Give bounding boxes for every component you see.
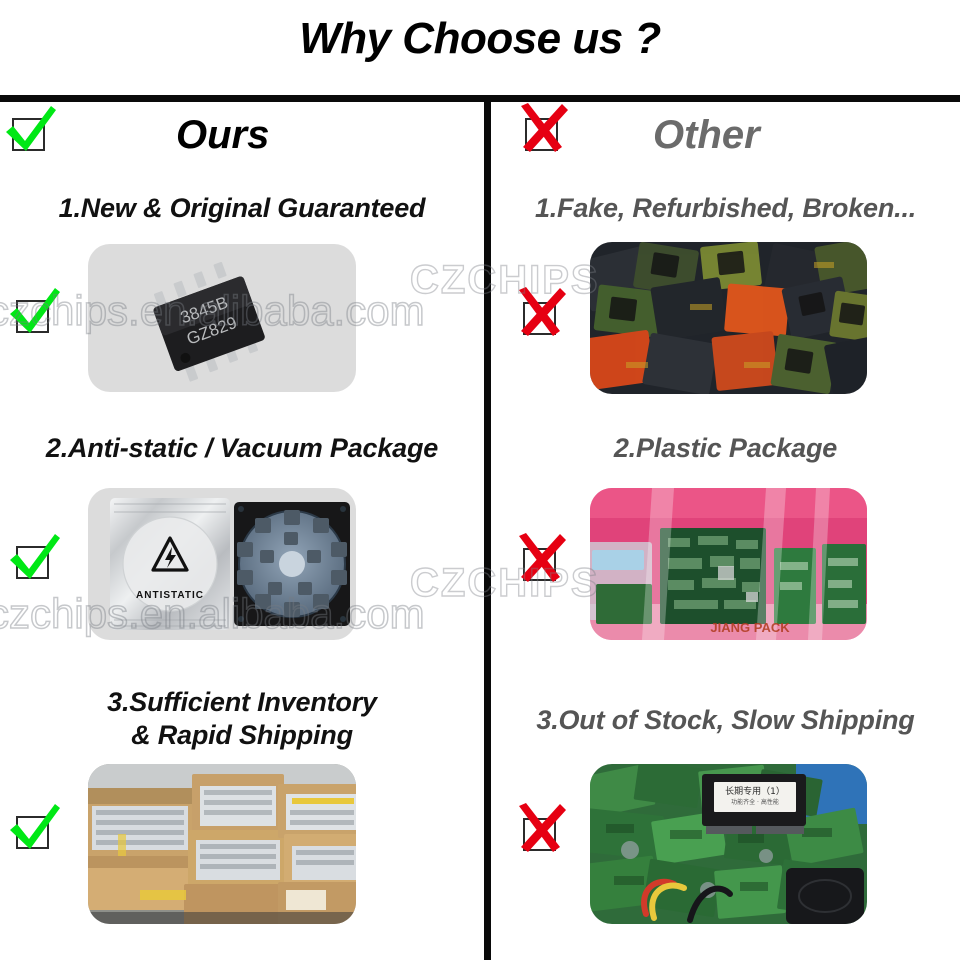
- comparison-poster: Why Choose us ? Ours Other 1.New & Origi…: [0, 0, 960, 960]
- svg-text:JIANG PACK: JIANG PACK: [710, 620, 790, 635]
- row-3-other-title: 3.Out of Stock, Slow Shipping: [491, 704, 960, 737]
- svg-text:ANTISTATIC: ANTISTATIC: [136, 590, 204, 601]
- row-2-other-title: 2.Plastic Package: [491, 432, 960, 465]
- check-icon: [6, 112, 50, 156]
- header-divider-horizontal: [0, 95, 960, 102]
- page-title: Why Choose us ?: [0, 14, 960, 64]
- ic-chip-photo: 3845B GZ829: [88, 244, 356, 392]
- plastic-package-photo: JIANG PACK: [590, 488, 867, 640]
- check-icon: [10, 810, 54, 854]
- svg-text:长期专用（1）: 长期专用（1）: [725, 785, 785, 797]
- row-3-ours-title: 3.Sufficient Inventory & Rapid Shipping: [0, 686, 484, 752]
- row-3-other: 3.Out of Stock, Slow Shipping: [491, 686, 960, 951]
- row-2-ours-title: 2.Anti-static / Vacuum Package: [0, 432, 484, 465]
- column-divider-vertical: [484, 95, 491, 960]
- row-3-ours: 3.Sufficient Inventory & Rapid Shipping: [0, 686, 484, 951]
- check-icon: [10, 294, 54, 338]
- column-header-ours: Ours: [0, 106, 484, 168]
- row-1-other-title: 1.Fake, Refurbished, Broken...: [491, 192, 960, 225]
- column-label-other: Other: [653, 106, 760, 164]
- scrap-chips-photo: [590, 242, 867, 394]
- column-label-ours: Ours: [176, 106, 269, 164]
- cross-icon: [517, 812, 561, 856]
- antistatic-package-photo: ANTISTATIC: [88, 488, 356, 640]
- svg-text:功能齐全 · 高性能: 功能齐全 · 高性能: [731, 798, 779, 806]
- row-2-ours: 2.Anti-static / Vacuum Package: [0, 432, 484, 657]
- row-1-ours: 1.New & Original Guaranteed 3845B: [0, 192, 484, 417]
- row-1-other: 1.Fake, Refurbished, Broken...: [491, 192, 960, 417]
- cross-icon: [517, 296, 561, 340]
- cross-icon: [517, 542, 561, 586]
- scrap-boards-photo: 长期专用（1） 功能齐全 · 高性能: [590, 764, 867, 924]
- check-icon: [10, 540, 54, 584]
- row-2-other: 2.Plastic Package: [491, 432, 960, 657]
- row-1-ours-title: 1.New & Original Guaranteed: [0, 192, 484, 225]
- warehouse-boxes-photo: [88, 764, 356, 924]
- column-header-other: Other: [491, 106, 960, 168]
- cross-icon: [519, 112, 563, 156]
